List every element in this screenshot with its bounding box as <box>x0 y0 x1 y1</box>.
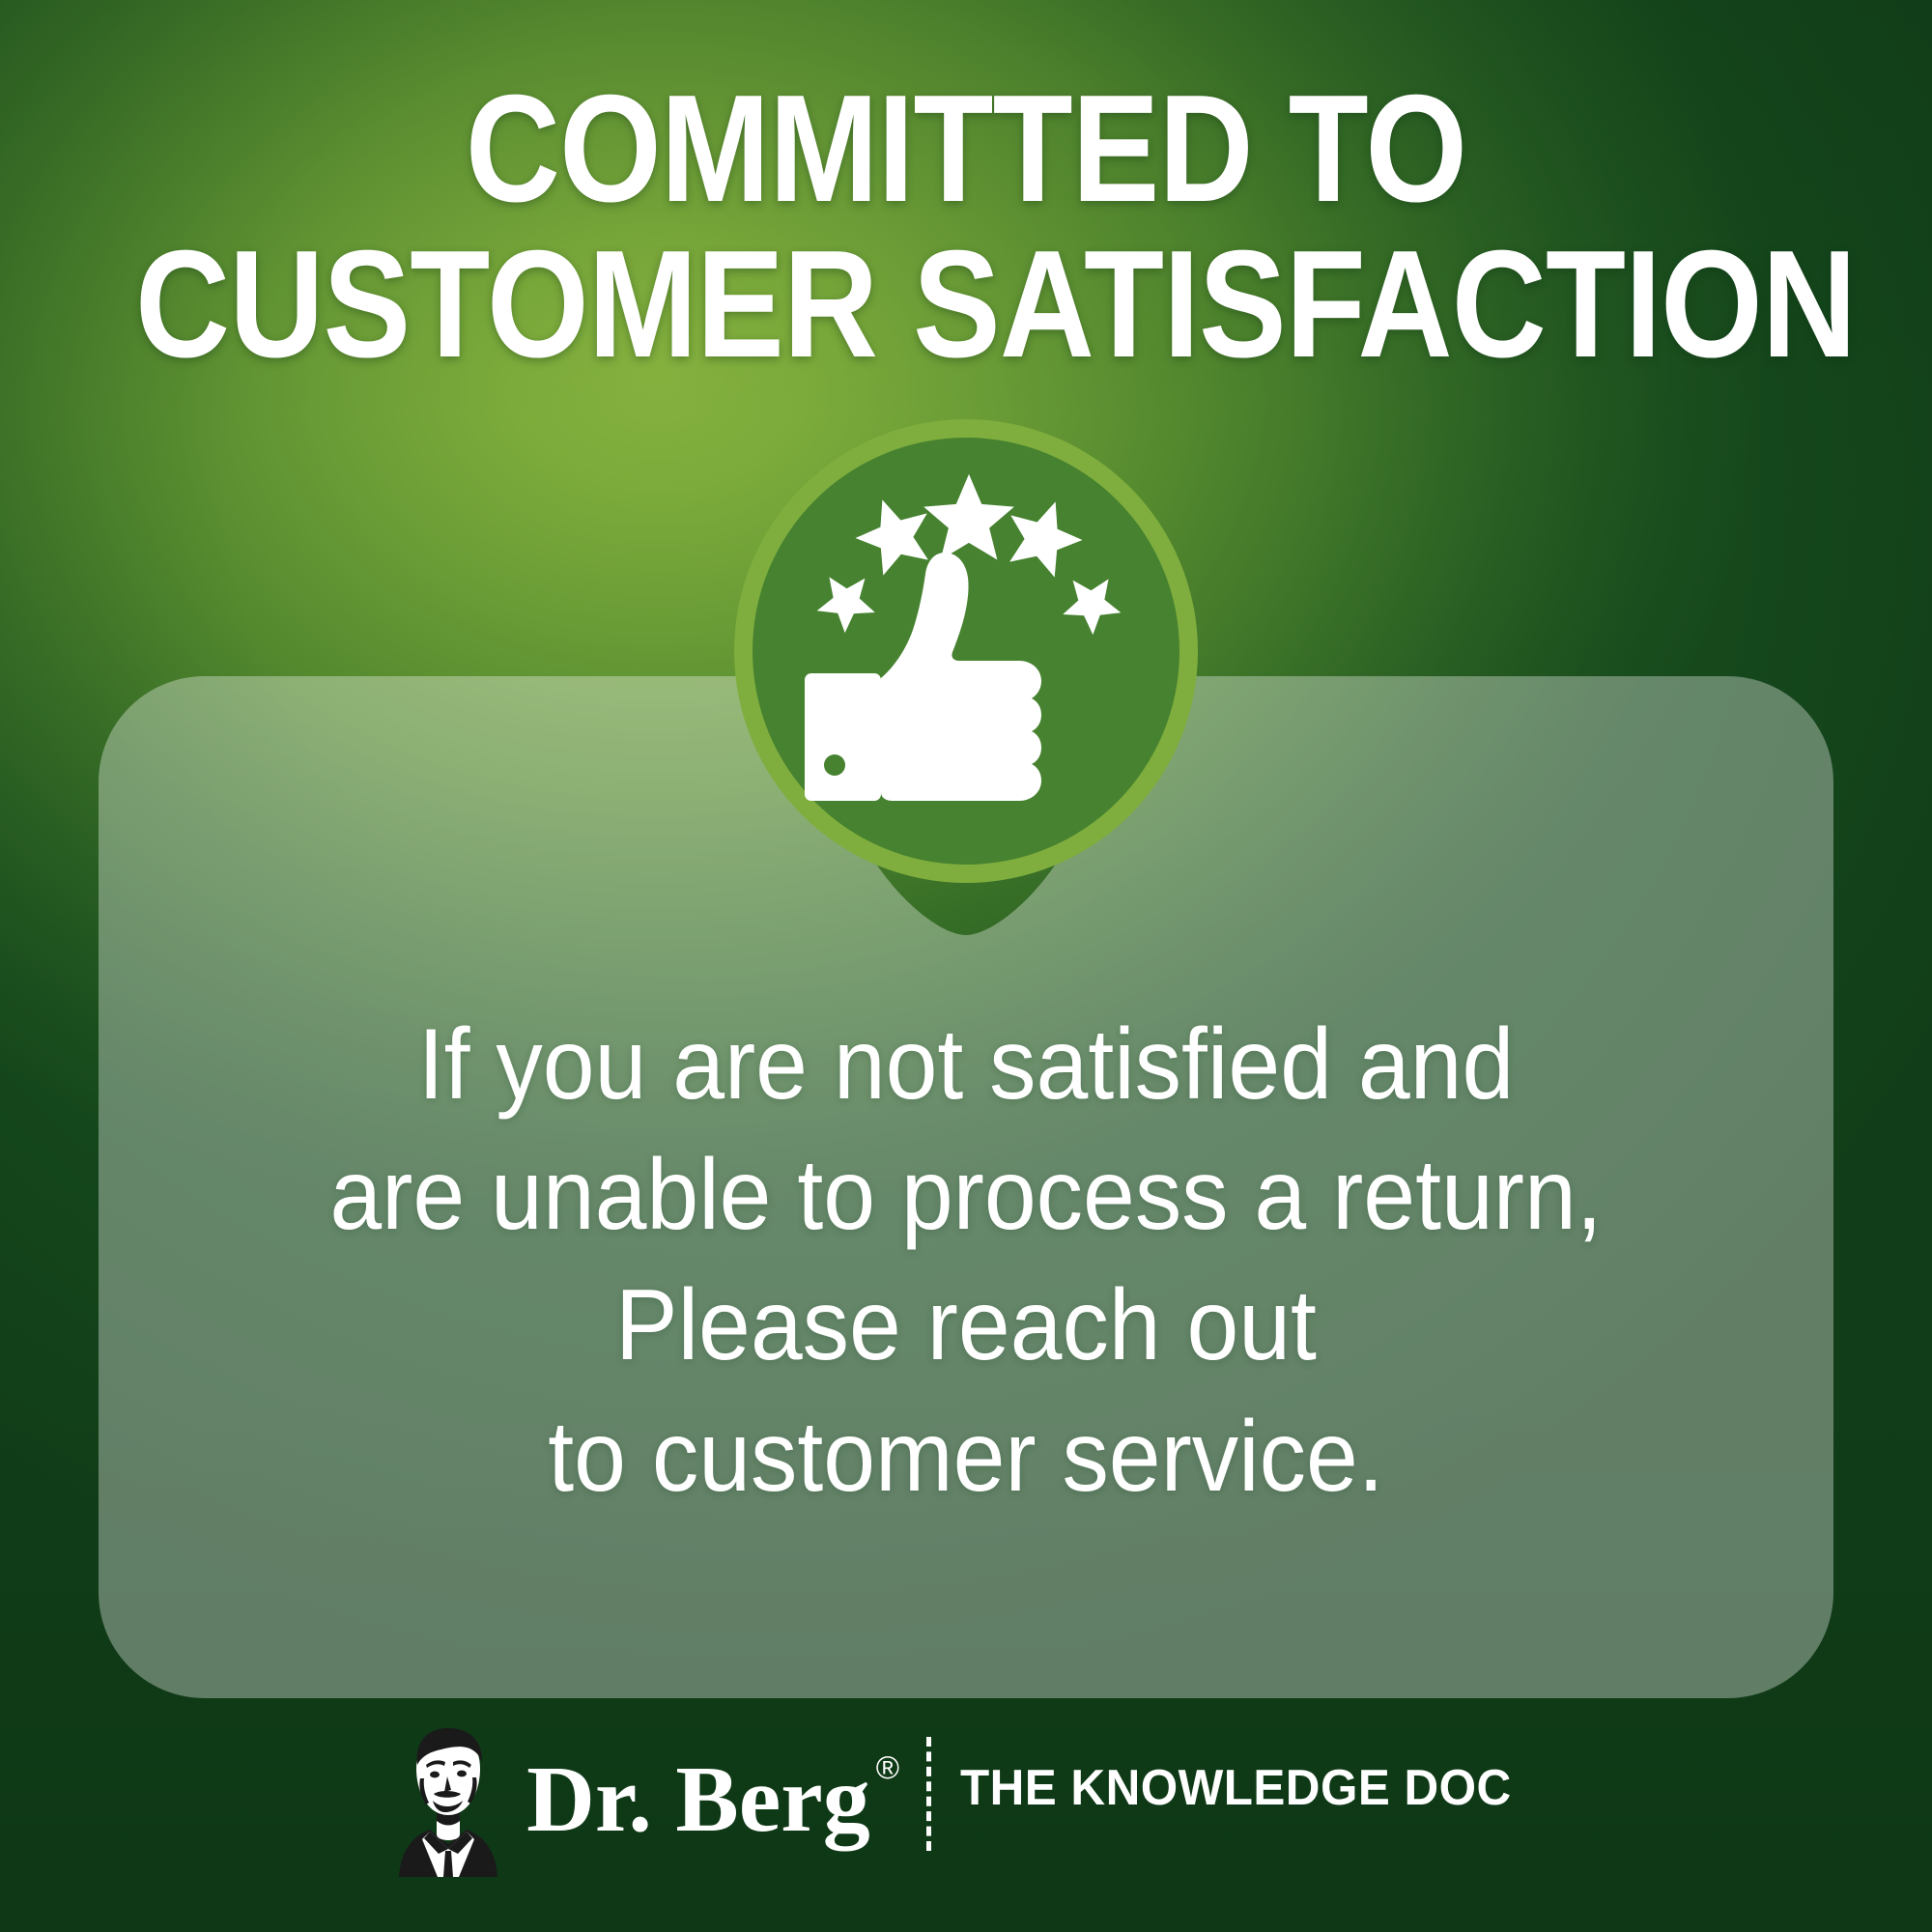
dr-berg-portrait-icon <box>391 1722 505 1877</box>
body-line-3: Please reach out <box>193 1261 1739 1391</box>
body-line-1: If you are not satisfied and <box>193 1000 1739 1130</box>
footer-divider <box>926 1737 931 1851</box>
five-star-thumbs-up-badge <box>734 419 1198 883</box>
poster-canvas: COMMITTED TO CUSTOMER SATISFACTION <box>0 0 1932 1932</box>
brand-footer: Dr. Berg® THE KNOWLEDGE DOC <box>0 1718 1932 1882</box>
brand-name: Dr. Berg <box>526 1747 870 1852</box>
brand-wordmark: Dr. Berg® <box>526 1752 894 1847</box>
body-message: If you are not satisfied and are unable … <box>193 1000 1739 1522</box>
page-title: COMMITTED TO CUSTOMER SATISFACTION <box>135 71 1797 383</box>
brand-tagline: THE KNOWLEDGE DOC <box>960 1759 1512 1817</box>
registered-trademark-icon: ® <box>876 1749 899 1785</box>
title-line-2: CUSTOMER SATISFACTION <box>135 227 1797 383</box>
body-line-2: are unable to process a return, <box>193 1130 1739 1261</box>
title-line-1: COMMITTED TO <box>135 71 1797 227</box>
body-line-4: to customer service. <box>193 1392 1739 1522</box>
